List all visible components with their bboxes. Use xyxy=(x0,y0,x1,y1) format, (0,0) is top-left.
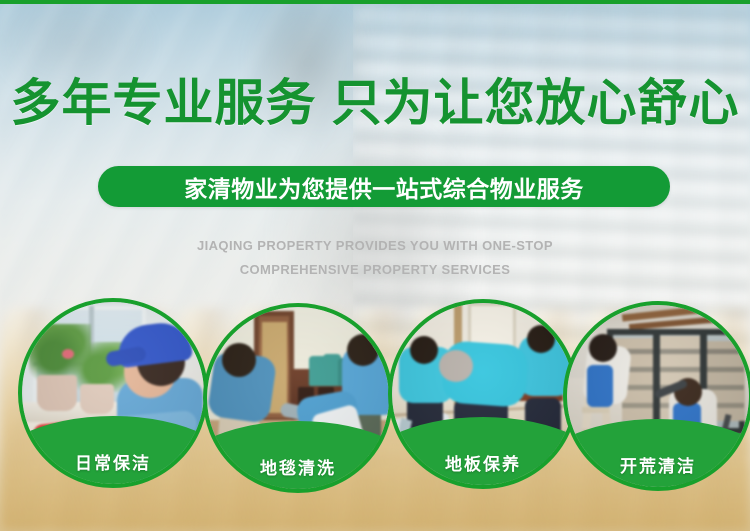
service-card-label: 开荒清洁 xyxy=(567,452,749,477)
english-subtitle-line2: COMPREHENSIVE PROPERTY SERVICES xyxy=(0,258,750,282)
subtitle-pill-label: 家清物业为您提供一站式综合物业服务 xyxy=(98,166,670,207)
service-card-label: 日常保洁 xyxy=(22,449,204,474)
top-green-rule xyxy=(0,0,750,4)
promo-banner: 多年专业服务 只为让您放心舒心 家清物业为您提供一站式综合物业服务 JIAQIN… xyxy=(0,0,750,531)
service-card-label: 地板保养 xyxy=(392,450,574,475)
subtitle-pill: 家清物业为您提供一站式综合物业服务 xyxy=(98,166,670,207)
english-subtitle-line1: JIAQING PROPERTY PROVIDES YOU WITH ONE-S… xyxy=(197,238,553,253)
service-card-label: 地毯清洗 xyxy=(207,454,389,479)
english-subtitle: JIAQING PROPERTY PROVIDES YOU WITH ONE-S… xyxy=(0,234,750,282)
service-card-floor-maintenance[interactable]: 地板保养 xyxy=(388,299,578,489)
service-card-carpet-cleaning[interactable]: 地毯清洗 xyxy=(203,303,393,493)
page-title: 多年专业服务 只为让您放心舒心 xyxy=(0,78,750,128)
service-card-post-construction-cleaning[interactable]: 开荒清洁 xyxy=(563,301,750,491)
service-card-daily-cleaning[interactable]: 日常保洁 xyxy=(18,298,208,488)
